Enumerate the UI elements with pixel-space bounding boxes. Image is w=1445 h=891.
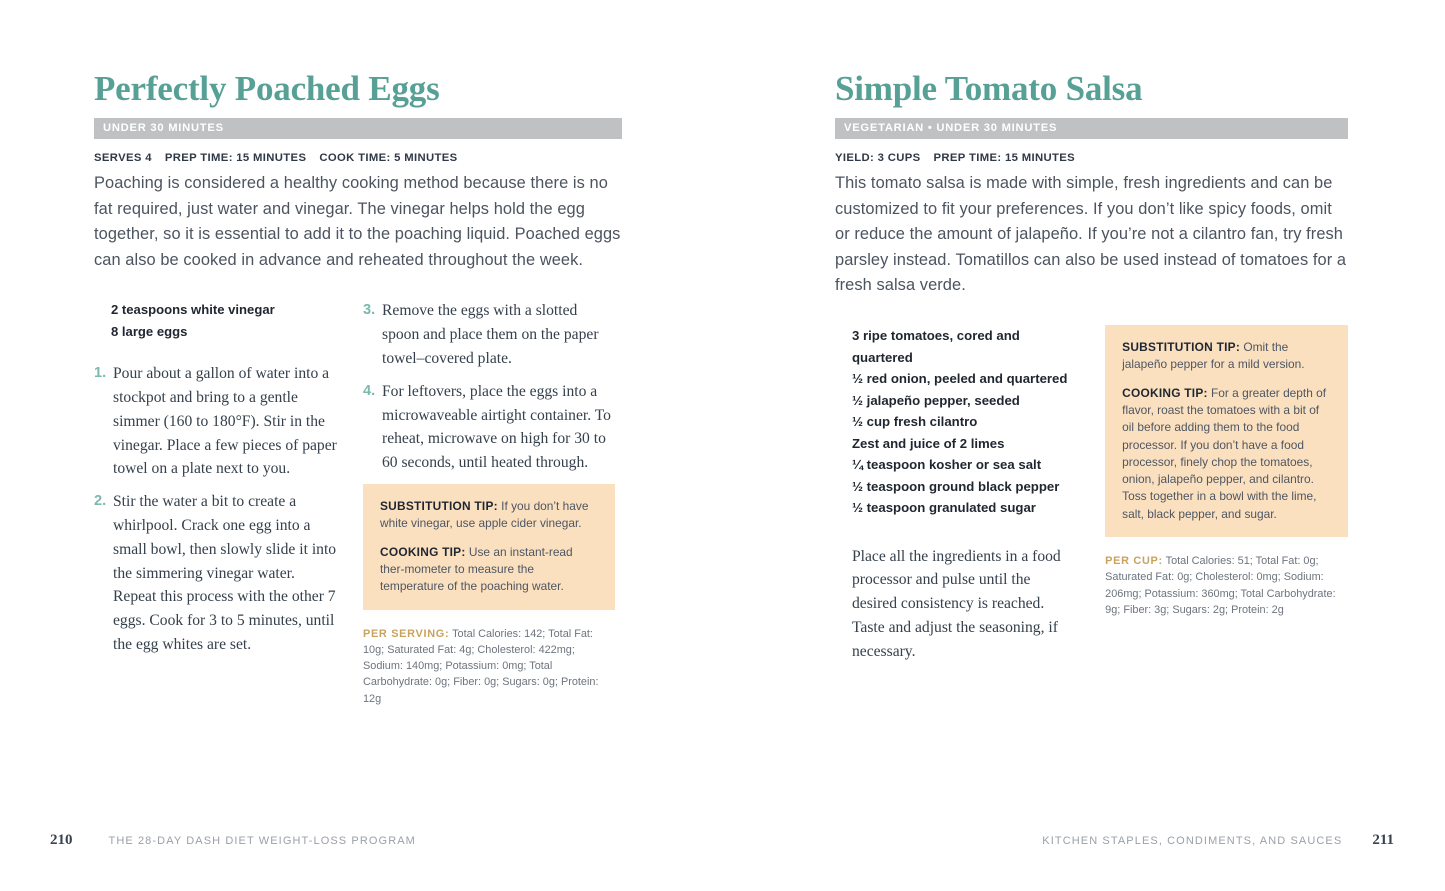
substitution-tip: SUBSTITUTION TIP: Omit the jalapeño pepp…: [1122, 339, 1332, 374]
nutrition-label: PER CUP:: [1105, 555, 1163, 567]
body-columns-left: 2 teaspoons white vinegar 8 large eggs 1…: [94, 299, 622, 717]
meta-prep-time: PREP TIME: 15 MINUTES: [934, 152, 1075, 164]
page-number-left: 210: [50, 832, 73, 849]
tip-box-left: SUBSTITUTION TIP: If you don’t have whit…: [363, 484, 615, 609]
step-item: 2. Stir the water a bit to create a whir…: [94, 490, 342, 657]
ingredient-item: 3 ripe tomatoes, cored and quartered: [852, 325, 1069, 368]
recipe-meta-left: SERVES 4PREP TIME: 15 MINUTESCOOK TIME: …: [94, 152, 622, 164]
running-head-right: KITCHEN STAPLES, CONDIMENTS, AND SAUCES: [1042, 835, 1342, 847]
ingredient-item: ½ teaspoon granulated sugar: [852, 497, 1069, 519]
step-text: Pour about a gallon of water into a stoc…: [113, 362, 342, 481]
cookbook-spread: Perfectly Poached Eggs UNDER 30 MINUTES …: [0, 0, 1445, 891]
step-item: 1. Pour about a gallon of water into a s…: [94, 362, 342, 481]
running-head-left: THE 28-DAY DASH DIET WEIGHT-LOSS PROGRAM: [109, 835, 416, 847]
meta-cook-time: COOK TIME: 5 MINUTES: [319, 152, 457, 164]
substitution-tip: SUBSTITUTION TIP: If you don’t have whit…: [380, 498, 599, 533]
ingredient-item: ¼ teaspoon kosher or sea salt: [852, 454, 1069, 476]
step-list-left-col2: 3. Remove the eggs with a slotted spoon …: [363, 299, 615, 475]
cooking-tip-label: COOKING TIP:: [380, 545, 466, 559]
cooking-tip-text: For a greater depth of flavor, roast the…: [1122, 386, 1326, 521]
step-item: 4. For leftovers, place the eggs into a …: [363, 380, 615, 475]
ingredient-item: ½ cup fresh cilantro: [852, 411, 1069, 433]
left-column-b: 3. Remove the eggs with a slotted spoon …: [363, 299, 615, 717]
meta-prep-time: PREP TIME: 15 MINUTES: [165, 152, 306, 164]
cooking-tip: COOKING TIP: For a greater depth of flav…: [1122, 385, 1332, 523]
method-paragraph-right: Place all the ingredients in a food proc…: [852, 545, 1069, 664]
meta-serves: SERVES 4: [94, 152, 152, 164]
category-banner-right: VEGETARIAN • UNDER 30 MINUTES: [835, 118, 1348, 139]
footer-right: KITCHEN STAPLES, CONDIMENTS, AND SAUCES …: [1042, 832, 1394, 849]
left-column-a: 2 teaspoons white vinegar 8 large eggs 1…: [94, 299, 342, 717]
ingredient-item: 2 teaspoons white vinegar: [111, 299, 342, 320]
cooking-tip: COOKING TIP: Use an instant-read ther-mo…: [380, 544, 599, 596]
ingredient-item: ½ teaspoon ground black pepper: [852, 476, 1069, 498]
step-item: 3. Remove the eggs with a slotted spoon …: [363, 299, 615, 370]
right-column-b: SUBSTITUTION TIP: Omit the jalapeño pepp…: [1105, 325, 1348, 663]
page-title-right: Simple Tomato Salsa: [835, 70, 1348, 107]
page-number-right: 211: [1372, 832, 1394, 849]
step-text: Remove the eggs with a slotted spoon and…: [382, 299, 615, 370]
ingredient-item: ½ red onion, peeled and quartered: [852, 368, 1069, 390]
ingredient-list-left: 2 teaspoons white vinegar 8 large eggs: [94, 299, 342, 342]
step-text: For leftovers, place the eggs into a mic…: [382, 380, 615, 475]
ingredient-list-right: 3 ripe tomatoes, cored and quartered ½ r…: [835, 325, 1069, 519]
meta-yield: YIELD: 3 CUPS: [835, 152, 921, 164]
nutrition-right: PER CUP: Total Calories: 51; Total Fat: …: [1105, 553, 1348, 618]
footer-left: 210 THE 28-DAY DASH DIET WEIGHT-LOSS PRO…: [50, 832, 416, 849]
step-number: 2.: [94, 490, 113, 657]
two-page-spread: Perfectly Poached Eggs UNDER 30 MINUTES …: [0, 0, 1445, 891]
step-number: 3.: [363, 299, 382, 370]
recipe-meta-right: YIELD: 3 CUPSPREP TIME: 15 MINUTES: [835, 152, 1348, 164]
step-number: 1.: [94, 362, 113, 481]
category-banner-left: UNDER 30 MINUTES: [94, 118, 622, 139]
substitution-tip-label: SUBSTITUTION TIP:: [380, 499, 498, 513]
right-column-a: 3 ripe tomatoes, cored and quartered ½ r…: [835, 325, 1069, 663]
ingredient-item: ½ jalapeño pepper, seeded: [852, 390, 1069, 412]
recipe-intro-left: Poaching is considered a healthy cooking…: [94, 171, 622, 273]
ingredient-item: 8 large eggs: [111, 321, 342, 342]
page-title-left: Perfectly Poached Eggs: [94, 70, 622, 107]
left-page: Perfectly Poached Eggs UNDER 30 MINUTES …: [0, 0, 722, 891]
recipe-intro-right: This tomato salsa is made with simple, f…: [835, 171, 1348, 299]
step-list-left-col1: 1. Pour about a gallon of water into a s…: [94, 362, 342, 657]
body-columns-right: 3 ripe tomatoes, cored and quartered ½ r…: [835, 325, 1348, 663]
cooking-tip-label: COOKING TIP:: [1122, 386, 1208, 400]
substitution-tip-label: SUBSTITUTION TIP:: [1122, 340, 1240, 354]
step-text: Stir the water a bit to create a whirlpo…: [113, 490, 342, 657]
tip-box-right: SUBSTITUTION TIP: Omit the jalapeño pepp…: [1105, 325, 1348, 537]
step-number: 4.: [363, 380, 382, 475]
ingredient-item: Zest and juice of 2 limes: [852, 433, 1069, 455]
nutrition-left: PER SERVING: Total Calories: 142; Total …: [363, 626, 615, 707]
right-page: Simple Tomato Salsa VEGETARIAN • UNDER 3…: [722, 0, 1444, 891]
nutrition-label: PER SERVING:: [363, 628, 449, 640]
